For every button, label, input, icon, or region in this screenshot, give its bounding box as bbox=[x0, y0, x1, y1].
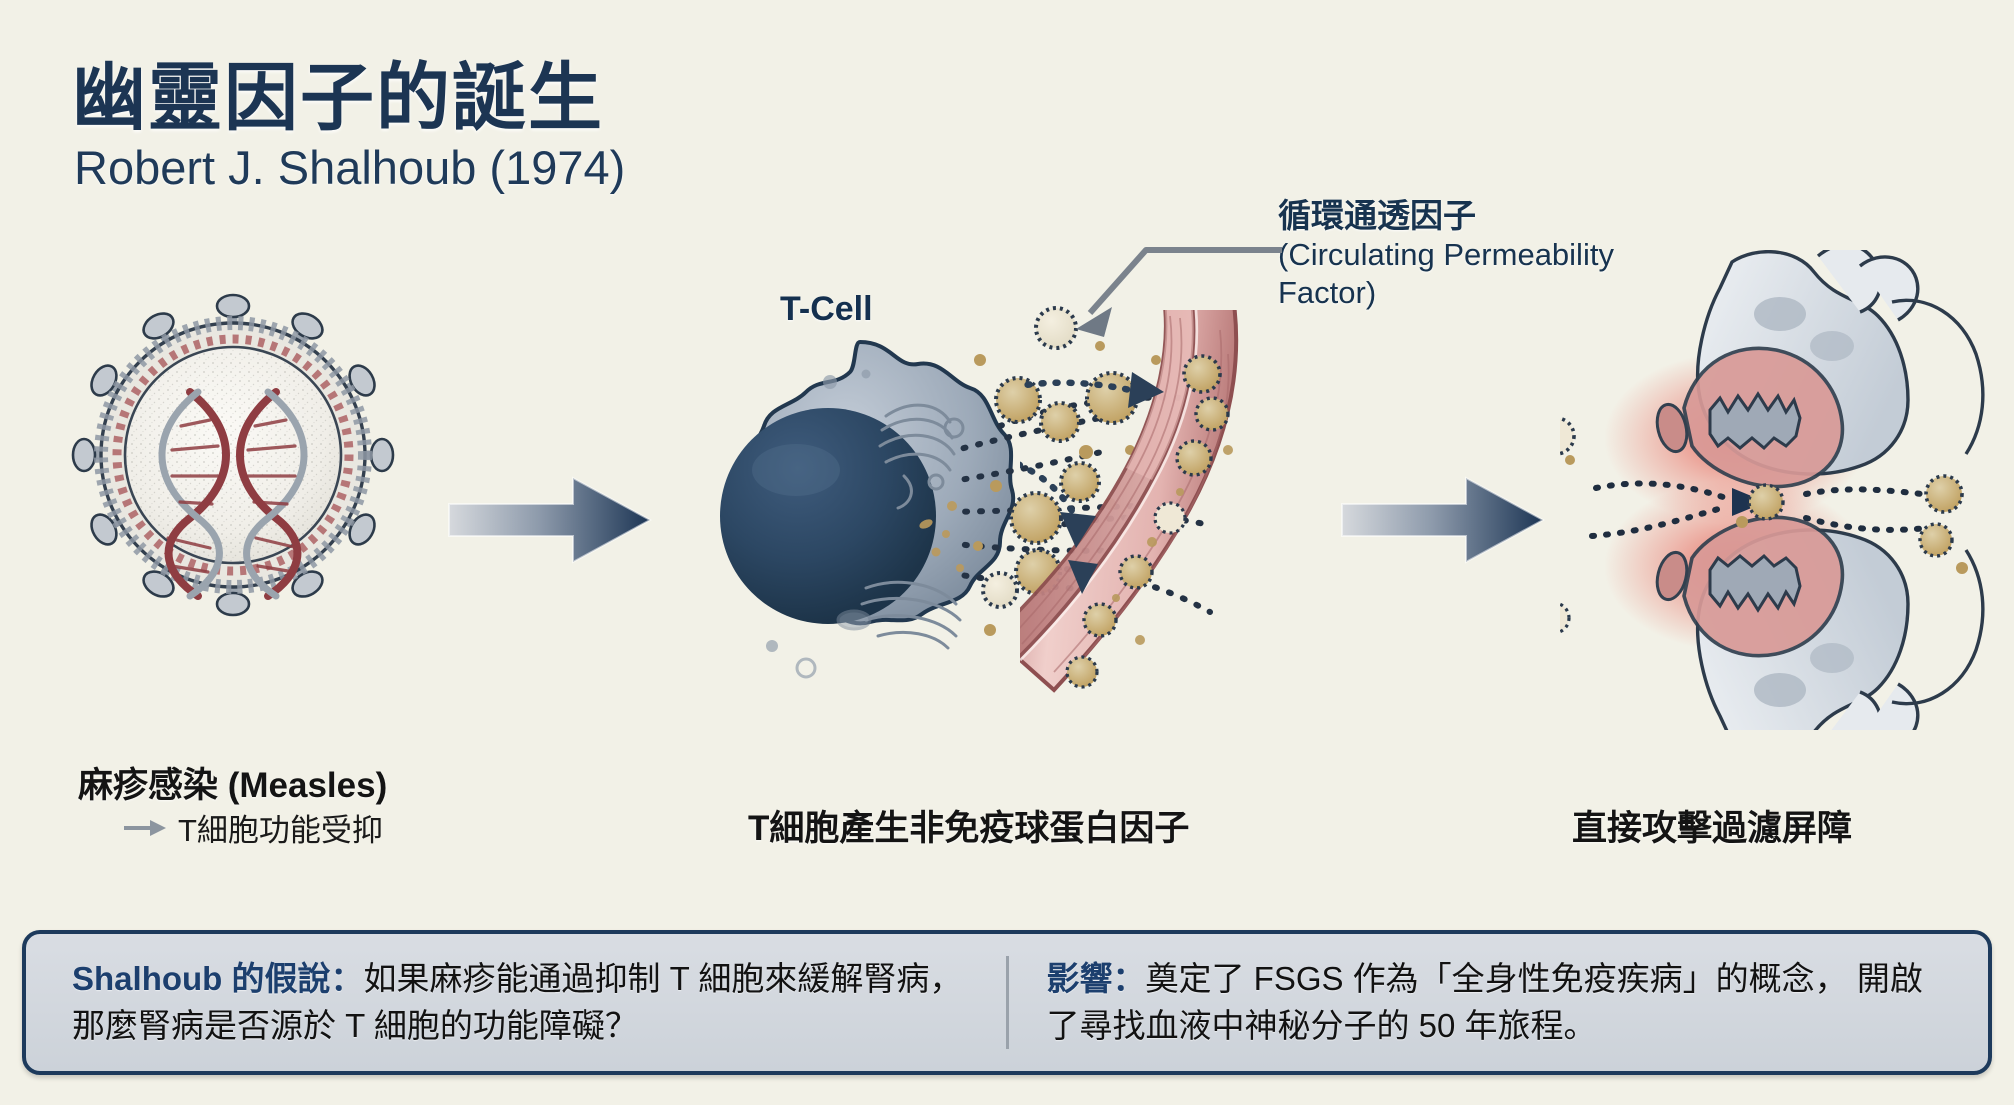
caption-tcell-factor: T細胞產生非免疫球蛋白因子 bbox=[748, 800, 1189, 851]
footer-hypothesis-cell: Shalhoub 的假說：如果麻疹能通過抑制 T 細胞來緩解腎病，那麼腎病是否源… bbox=[26, 934, 1006, 1071]
infographic-canvas: 幽靈因子的誕生 Robert J. Shalhoub (1974) bbox=[0, 0, 2014, 1105]
filtration-barrier-illustration bbox=[1560, 250, 2014, 730]
page-subtitle: Robert J. Shalhoub (1974) bbox=[74, 140, 625, 195]
blood-vessel-illustration bbox=[1020, 310, 1360, 780]
tcell-nucleus bbox=[720, 408, 936, 624]
flow-arrow-1 bbox=[445, 470, 655, 570]
caption-measles-sub: T細胞功能受抑 bbox=[122, 805, 383, 850]
footer-impact-cell: 影響：奠定了 FSGS 作為「全身性免疫疾病」的概念， 開啟了尋找血液中神秘分子… bbox=[1009, 934, 1989, 1071]
cpf-leader-line bbox=[1050, 195, 1290, 355]
footer-hypothesis-text: Shalhoub 的假說：如果麻疹能通過抑制 T 細胞來緩解腎病，那麼腎病是否源… bbox=[72, 956, 968, 1050]
footer-impact-label: 影響： bbox=[1047, 960, 1146, 997]
footer-impact-body: 奠定了 FSGS 作為「全身性免疫疾病」的概念， 開啟了尋找血液中神秘分子的 5… bbox=[1047, 960, 1923, 1044]
footer-impact-text: 影響：奠定了 FSGS 作為「全身性免疫疾病」的概念， 開啟了尋找血液中神秘分子… bbox=[1047, 956, 1951, 1050]
cpf-label-cn: 循環通透因子 bbox=[1278, 196, 1614, 236]
caption-barrier-attack: 直接攻擊過濾屏障 bbox=[1572, 800, 1852, 851]
footer-panel: Shalhoub 的假說：如果麻疹能通過抑制 T 細胞來緩解腎病，那麼腎病是否源… bbox=[22, 930, 1992, 1075]
flow-arrow-2 bbox=[1338, 470, 1548, 570]
page-title: 幽靈因子的誕生 bbox=[72, 38, 604, 145]
measles-virus-illustration bbox=[58, 280, 408, 630]
caption-measles: 麻疹感染 (Measles) bbox=[78, 757, 387, 808]
footer-hypothesis-label: Shalhoub 的假說： bbox=[72, 960, 364, 997]
small-arrow-icon bbox=[122, 817, 168, 839]
caption-measles-sub-text: T細胞功能受抑 bbox=[178, 805, 383, 850]
